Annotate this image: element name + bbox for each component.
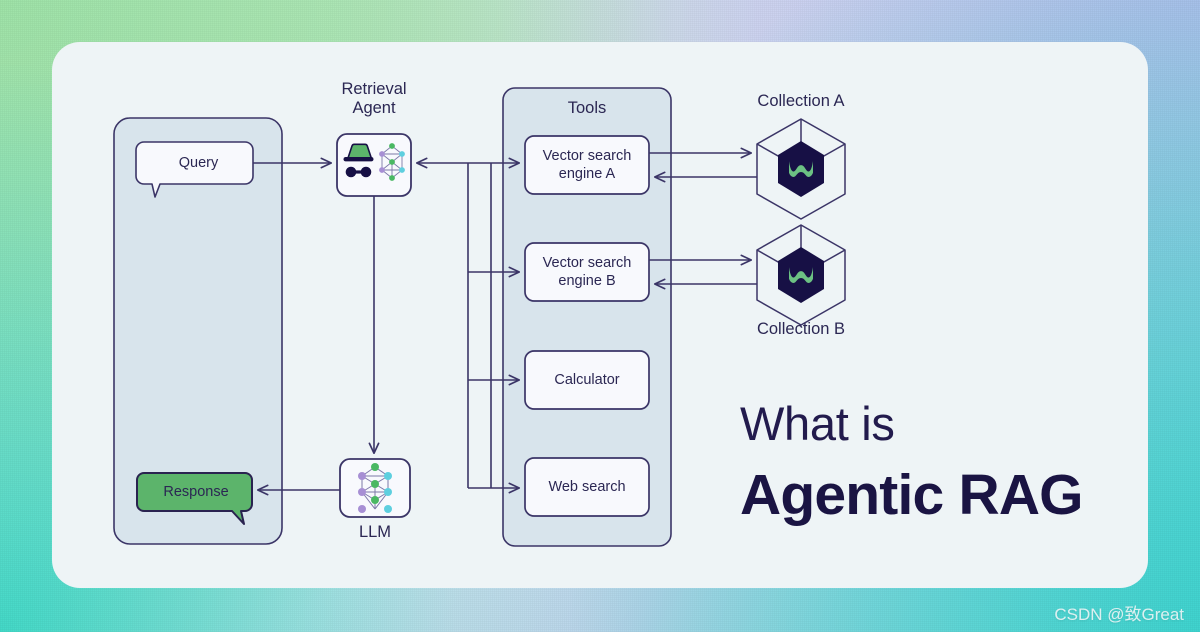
llm-node[interactable] [340, 459, 410, 517]
llm-label: LLM [315, 523, 435, 542]
tool-box-web-search[interactable] [525, 458, 649, 516]
collection-a-logo[interactable] [757, 119, 845, 219]
tool-box-calculator[interactable] [525, 351, 649, 409]
weaviate-hexagon-logo [757, 119, 845, 219]
retrieval-agent-node[interactable] [337, 134, 411, 196]
collection-b-label: Collection B [721, 320, 881, 339]
weaviate-hexagon-logo [757, 225, 845, 325]
tool-box-vector-search-engine-b[interactable] [525, 243, 649, 301]
retrieval-agent-label: Retrieval Agent [312, 80, 436, 119]
tools-panel-label: Tools [527, 99, 647, 118]
tool-box-vector-search-engine-a[interactable] [525, 136, 649, 194]
headline-line-1: What is [740, 400, 1083, 447]
agentic-rag-diagram [0, 0, 1200, 632]
headline: What is Agentic RAG [740, 400, 1083, 524]
collection-a-label: Collection A [721, 92, 881, 111]
headline-line-2: Agentic RAG [740, 467, 1083, 524]
watermark: CSDN @致Great [1054, 600, 1184, 625]
collection-b-logo[interactable] [757, 225, 845, 325]
